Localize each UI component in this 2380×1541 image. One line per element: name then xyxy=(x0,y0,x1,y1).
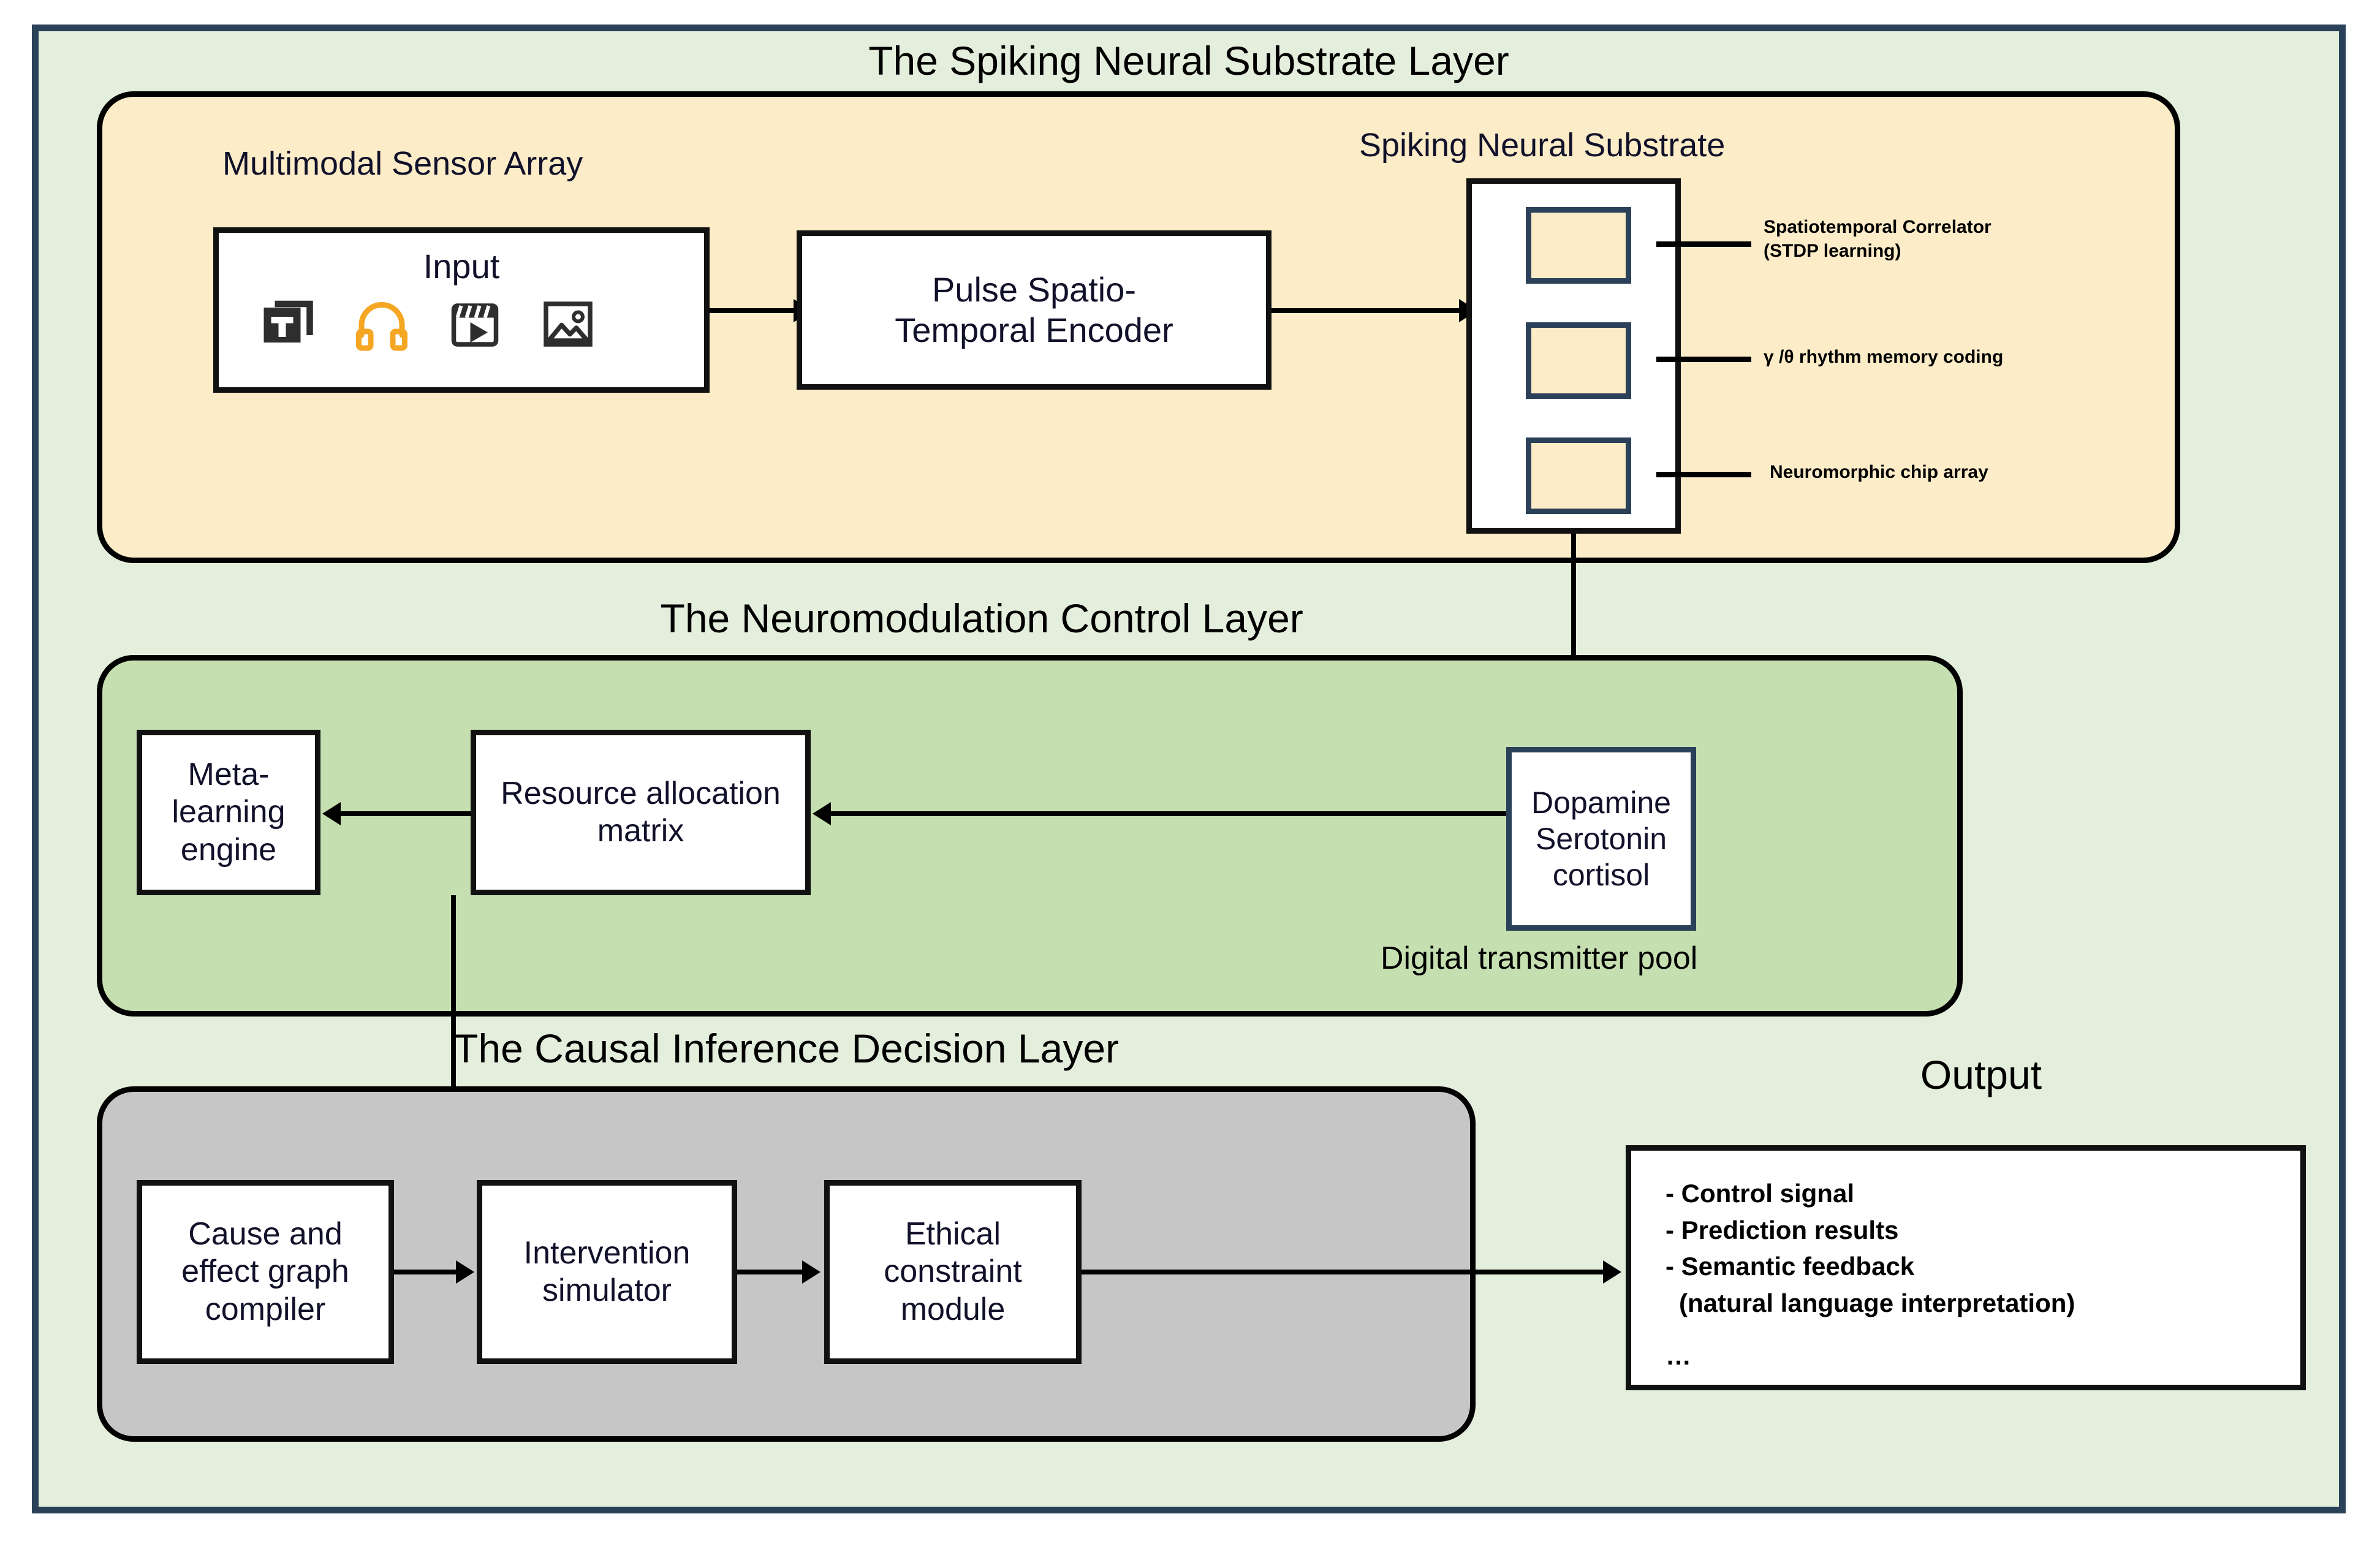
text-icon xyxy=(259,295,318,354)
connector-input-to-encoder xyxy=(710,308,797,313)
resource-allocation-matrix-box[interactable]: Resource allocation matrix xyxy=(471,730,811,895)
ethical-line-1: Ethical xyxy=(905,1216,1001,1253)
connector-compiler-to-simulator xyxy=(394,1270,458,1274)
intervention-line-1: Intervention xyxy=(524,1235,691,1272)
arrowhead-compiler-to-simulator xyxy=(456,1260,474,1284)
spiking-neural-substrate-panel xyxy=(1466,178,1681,534)
connector-transmitter-to-matrix xyxy=(829,811,1506,816)
annotation-rhythm-memory-coding: γ /θ rhythm memory coding xyxy=(1764,345,2003,369)
arrowhead-simulator-to-ethical xyxy=(802,1260,820,1284)
arrowhead-matrix-to-meta xyxy=(322,802,341,825)
diagram-canvas: The Spiking Neural Substrate Layer Multi… xyxy=(0,0,2380,1541)
output-item-0: - Control signal xyxy=(1666,1175,2300,1212)
arrowhead-transmitter-to-matrix xyxy=(813,802,831,825)
outer-frame: The Spiking Neural Substrate Layer Multi… xyxy=(32,25,2346,1513)
resource-matrix-line-1: Resource allocation xyxy=(501,775,781,812)
layer-title-causal: The Causal Inference Decision Layer xyxy=(39,1025,1534,1072)
encoder-line-2: Temporal Encoder xyxy=(895,310,1173,350)
group-title-multimodal-sensor-array: Multimodal Sensor Array xyxy=(222,145,583,183)
output-item-1: - Prediction results xyxy=(1666,1212,2300,1249)
layer-title-spiking: The Spiking Neural Substrate Layer xyxy=(39,37,2339,84)
cause-effect-graph-compiler-box[interactable]: Cause and effect graph compiler xyxy=(137,1180,394,1364)
ethical-constraint-module-box[interactable]: Ethical constraint module xyxy=(824,1180,1082,1364)
causal-compiler-line-3: compiler xyxy=(205,1291,326,1328)
connector-matrix-to-meta xyxy=(339,811,471,816)
pulse-spatio-temporal-encoder-box[interactable]: Pulse Spatio- Temporal Encoder xyxy=(797,230,1271,390)
intervention-simulator-box[interactable]: Intervention simulator xyxy=(477,1180,737,1364)
annotation-spatiotemporal-correlator: Spatiotemporal Correlator (STDP learning… xyxy=(1764,215,1992,263)
ethical-line-2: constraint xyxy=(884,1253,1021,1290)
ethical-line-3: module xyxy=(901,1291,1006,1328)
image-icon xyxy=(539,295,597,354)
output-item-4: … xyxy=(1666,1338,2300,1374)
causal-compiler-line-1: Cause and xyxy=(188,1216,343,1253)
leader-line-3 xyxy=(1656,472,1751,477)
group-title-spiking-neural-substrate: Spiking Neural Substrate xyxy=(1359,126,1725,164)
leader-line-1 xyxy=(1656,241,1751,247)
meta-learning-line-2: engine xyxy=(181,831,276,869)
meta-learning-line-1: Meta-learning xyxy=(147,756,310,831)
video-icon xyxy=(445,295,504,354)
annotation-neuromorphic-chip-array: Neuromorphic chip array xyxy=(1770,460,1988,484)
substrate-cell-1 xyxy=(1526,207,1631,284)
output-box[interactable]: - Control signal - Prediction results - … xyxy=(1626,1145,2306,1390)
output-item-2: - Semantic feedback xyxy=(1666,1248,2300,1285)
causal-compiler-line-2: effect graph xyxy=(181,1253,349,1290)
intervention-line-2: simulator xyxy=(542,1272,672,1309)
input-label: Input xyxy=(423,246,500,287)
leader-line-2 xyxy=(1656,357,1751,362)
connector-ethical-to-output xyxy=(1082,1270,1605,1274)
layer-title-neuromodulation: The Neuromodulation Control Layer xyxy=(39,595,1925,642)
transmitter-line-1: Dopamine xyxy=(1531,785,1671,821)
digital-transmitter-pool-caption: Digital transmitter pool xyxy=(1381,940,1697,977)
transmitter-line-3: cortisol xyxy=(1553,857,1650,893)
resource-matrix-line-2: matrix xyxy=(597,812,684,850)
headphones-icon xyxy=(352,295,411,354)
output-title: Output xyxy=(1852,1051,2110,1098)
substrate-cell-3 xyxy=(1526,437,1631,514)
substrate-cell-2 xyxy=(1526,322,1631,399)
meta-learning-engine-box[interactable]: Meta-learning engine xyxy=(137,730,320,895)
digital-transmitter-box[interactable]: Dopamine Serotonin cortisol xyxy=(1506,747,1696,931)
connector-simulator-to-ethical xyxy=(737,1270,805,1274)
encoder-line-1: Pulse Spatio- xyxy=(932,270,1136,310)
connector-encoder-to-substrate xyxy=(1271,308,1461,313)
arrowhead-ethical-to-output xyxy=(1603,1260,1621,1284)
transmitter-line-2: Serotonin xyxy=(1536,821,1667,857)
input-icon-strip xyxy=(259,295,597,354)
output-item-3: (natural language interpretation) xyxy=(1666,1285,2300,1322)
